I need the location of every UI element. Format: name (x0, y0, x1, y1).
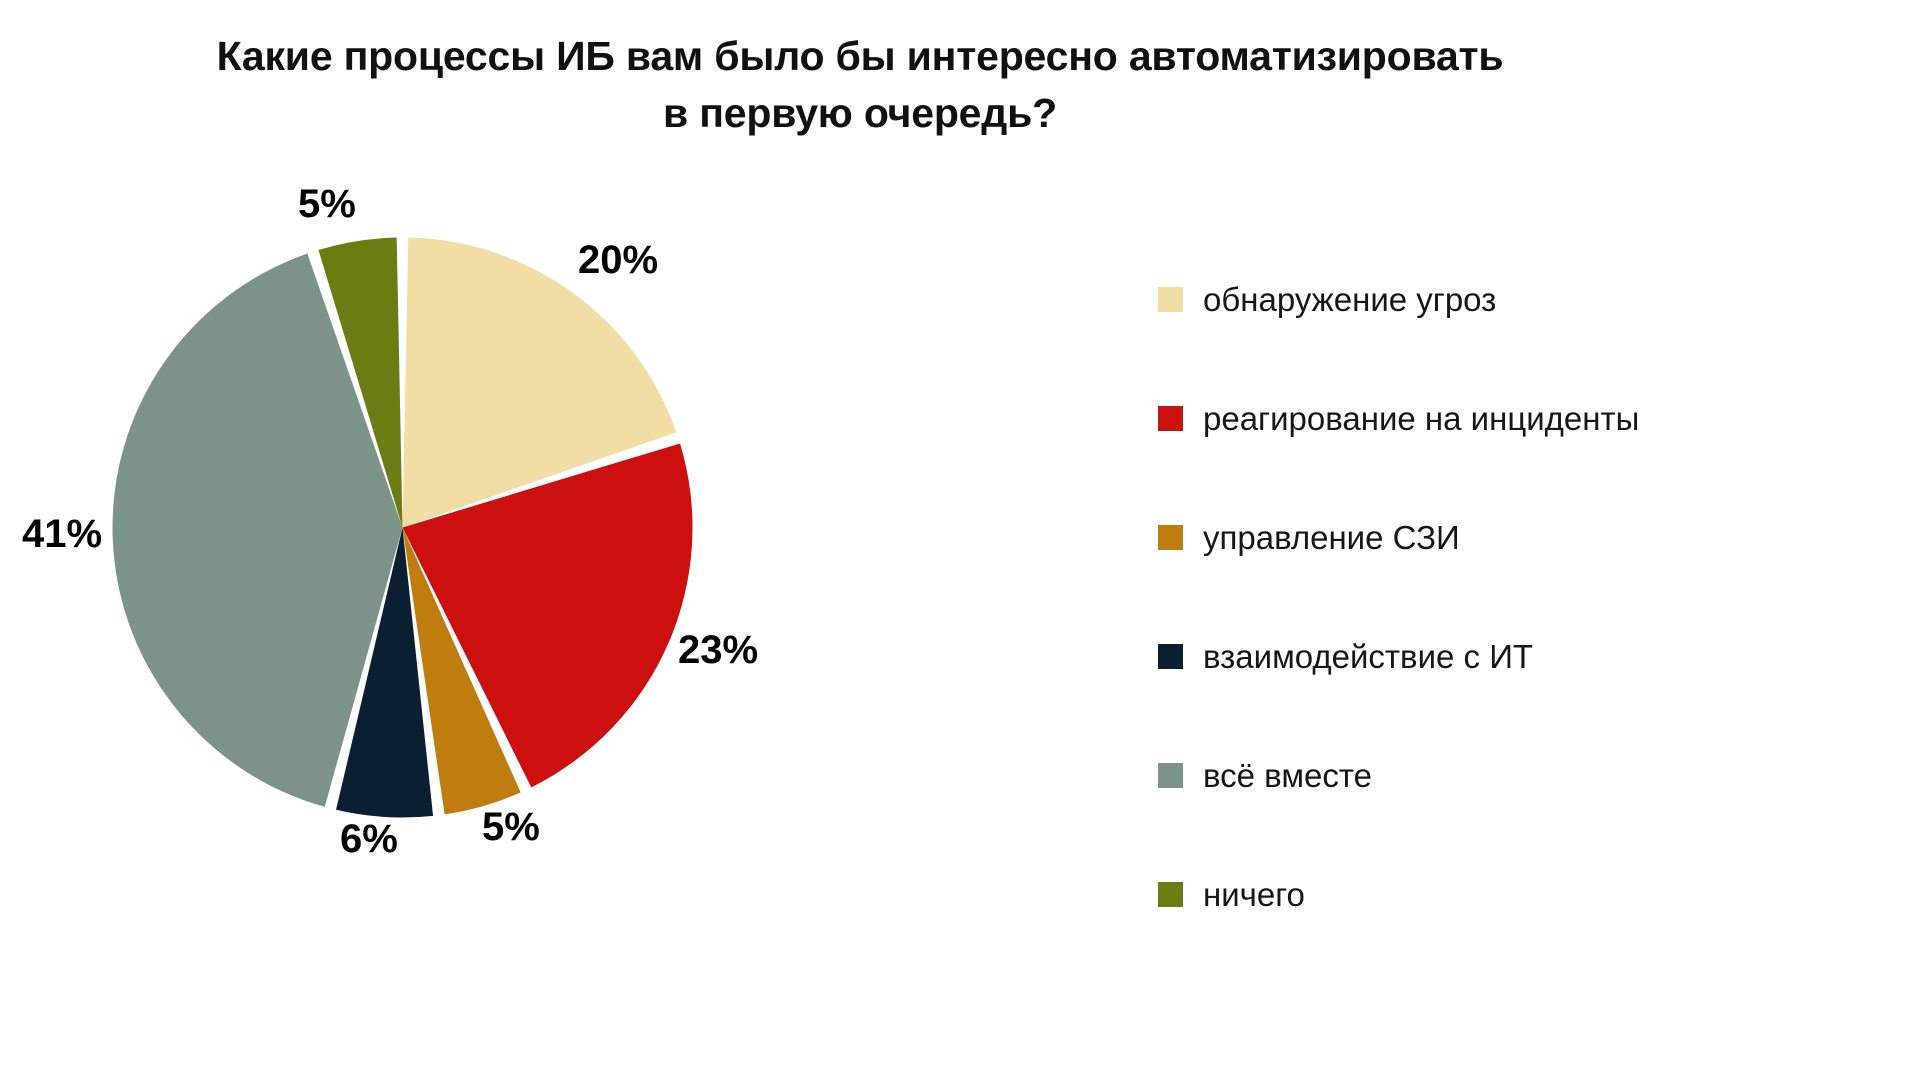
legend-item-label: управление СЗИ (1203, 521, 1460, 554)
legend-item[interactable]: реагирование на инциденты (1158, 359, 1858, 478)
legend-item[interactable]: всё вместе (1158, 716, 1858, 835)
chart-title-line-1: Какие процессы ИБ вам было бы интересно … (0, 28, 1720, 85)
legend-item-label: реагирование на инциденты (1203, 402, 1639, 435)
legend-swatch-icon (1158, 644, 1183, 669)
legend-item-label: ничего (1203, 878, 1305, 911)
pie-slice-group (112, 238, 692, 818)
chart-title: Какие процессы ИБ вам было бы интересно … (0, 28, 1720, 141)
slice-value-detection: 20% (578, 238, 658, 283)
slice-value-all: 41% (22, 512, 102, 557)
chart-title-line-2: в первую очередь? (0, 85, 1720, 142)
slice-value-response: 23% (678, 628, 758, 673)
legend-swatch-icon (1158, 882, 1183, 907)
chart-legend: обнаружение угрозреагирование на инциден… (1158, 240, 1858, 954)
legend-swatch-icon (1158, 406, 1183, 431)
legend-item[interactable]: ничего (1158, 835, 1858, 954)
legend-item[interactable]: взаимодействие с ИТ (1158, 597, 1858, 716)
slice-value-nothing: 5% (298, 182, 356, 227)
slice-value-it: 6% (340, 817, 398, 862)
legend-item[interactable]: управление СЗИ (1158, 478, 1858, 597)
legend-swatch-icon (1158, 525, 1183, 550)
legend-swatch-icon (1158, 287, 1183, 312)
pie-chart-slide: Какие процессы ИБ вам было бы интересно … (0, 0, 1920, 1080)
legend-item-label: взаимодействие с ИТ (1203, 640, 1533, 673)
slice-value-szi: 5% (482, 805, 540, 850)
legend-item-label: всё вместе (1203, 759, 1372, 792)
pie-graphic (110, 235, 695, 820)
pie-svg (110, 235, 695, 820)
legend-swatch-icon (1158, 763, 1183, 788)
legend-item[interactable]: обнаружение угроз (1158, 240, 1858, 359)
legend-item-label: обнаружение угроз (1203, 283, 1496, 316)
